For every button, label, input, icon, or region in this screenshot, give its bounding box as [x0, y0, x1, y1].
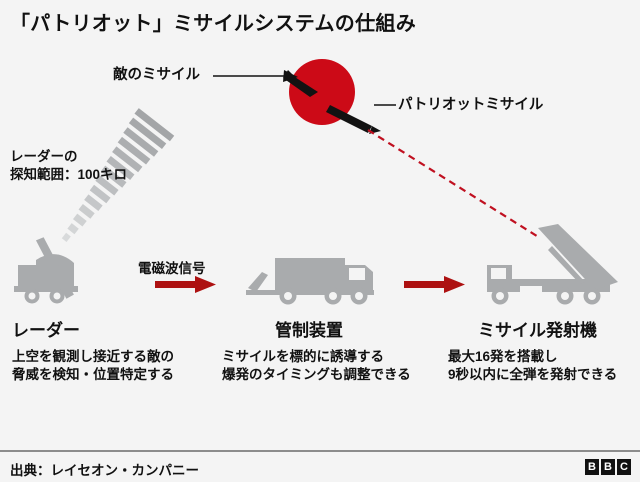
control-vehicle-icon: [246, 258, 374, 305]
source-attribution: 出典：レイセオン・カンパニー: [10, 459, 199, 479]
label-radar-detection-range: レーダーの 探知範囲：100キロ: [10, 148, 127, 183]
radar-vehicle-icon: [14, 234, 78, 303]
label-enemy-missile: 敵のミサイル: [113, 66, 200, 85]
bbc-logo-block-2: B: [601, 459, 615, 475]
label-patriot-missile: パトリオットミサイル: [398, 96, 543, 115]
infographic-root: 「パトリオット」ミサイルシステムの仕組み: [0, 0, 640, 482]
arrow-control-to-launcher: [404, 276, 465, 293]
column-body-control-unit: ミサイルを標的に誘導する 爆発のタイミングも調整できる: [222, 348, 411, 384]
label-electromagnetic-signal: 電磁波信号: [138, 257, 206, 277]
column-heading-control-unit: 管制装置: [275, 320, 343, 342]
column-body-radar: 上空を観測し接近する敵の 脅威を検知・位置特定する: [12, 348, 174, 384]
bbc-logo-block-1: B: [585, 459, 599, 475]
missile-trajectory-dashed: [368, 130, 540, 238]
column-body-launcher: 最大16発を搭載し 9秒以内に全弾を発射できる: [448, 348, 617, 384]
diagram-canvas: [0, 0, 640, 482]
bbc-logo-block-3: C: [617, 459, 631, 475]
bbc-logo: B B C: [585, 459, 631, 475]
enemy-missile-leader: [213, 70, 298, 82]
column-heading-radar: レーダー: [12, 320, 80, 342]
column-heading-launcher: ミサイル発射機: [478, 320, 597, 342]
arrow-radar-to-control: [155, 276, 216, 293]
launcher-vehicle-icon: [487, 224, 618, 305]
footer-divider: [0, 450, 640, 452]
